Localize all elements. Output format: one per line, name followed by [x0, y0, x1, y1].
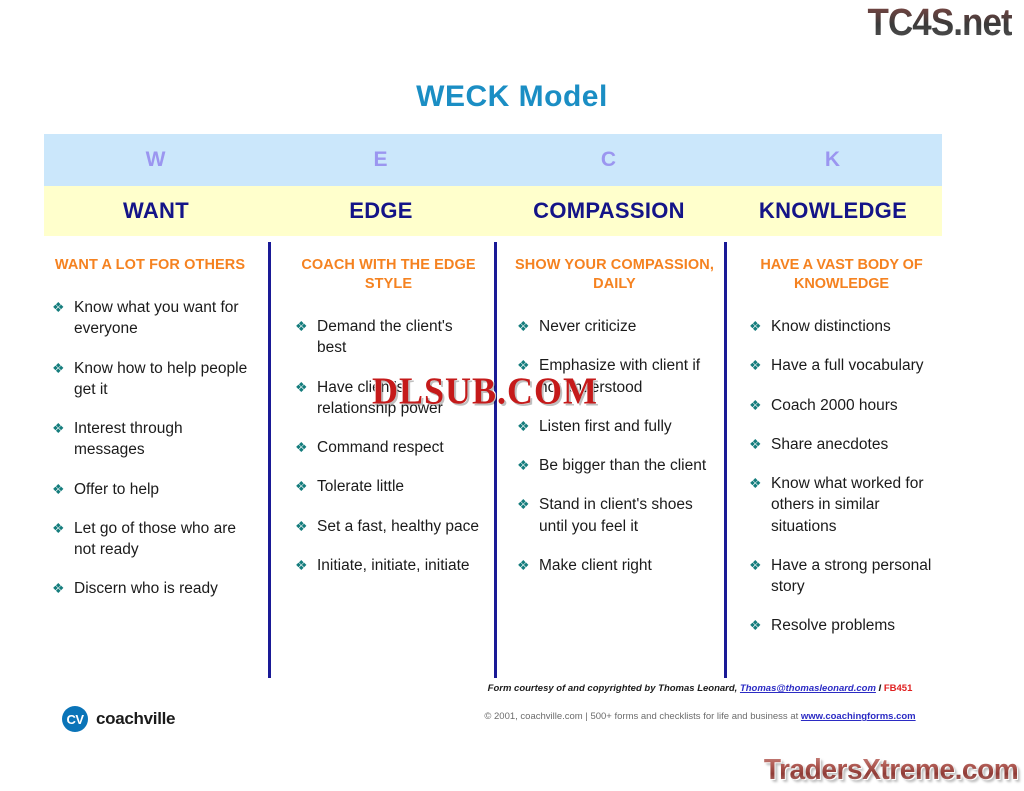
diamond-bullet-icon: ❖	[749, 355, 762, 376]
diamond-bullet-icon: ❖	[52, 418, 65, 439]
diamond-bullet-icon: ❖	[295, 516, 308, 537]
letter-cell-w: W	[44, 134, 268, 186]
words-row: WANT EDGE COMPASSION KNOWLEDGE	[44, 186, 942, 236]
weck-table-header: W E C K WANT EDGE COMPASSION KNOWLEDGE	[44, 134, 942, 236]
letter-cell-e: E	[268, 134, 494, 186]
diamond-bullet-icon: ❖	[52, 518, 65, 539]
list-item-text: Have client's relationship power	[317, 379, 443, 417]
list-item: ❖Know how to help people get it	[50, 358, 250, 400]
diamond-bullet-icon: ❖	[517, 494, 530, 515]
list-item: ❖Initiate, initiate, initiate	[293, 555, 484, 576]
list-item: ❖Listen first and fully	[515, 416, 714, 437]
diamond-bullet-icon: ❖	[295, 437, 308, 458]
list-item: ❖Interest through messages	[50, 418, 250, 460]
diamond-bullet-icon: ❖	[749, 615, 762, 636]
word-cell-edge: EDGE	[268, 186, 494, 236]
diamond-bullet-icon: ❖	[517, 555, 530, 576]
column-subhead: COACH WITH THE EDGE STYLE	[293, 256, 484, 294]
list-item: ❖Have a strong personal story	[747, 555, 936, 597]
cv-badge-icon: CV	[62, 706, 88, 732]
column-knowledge: HAVE A VAST BODY OF KNOWLEDGE ❖Know dist…	[724, 242, 942, 678]
form-code: FB451	[884, 683, 913, 694]
list-item-text: Never criticize	[539, 318, 636, 335]
diamond-bullet-icon: ❖	[295, 316, 308, 337]
list-item: ❖Have a full vocabulary	[747, 355, 936, 376]
footer-credit-prefix: Form courtesy of and copyrighted by Thom…	[488, 683, 740, 694]
column-compassion: SHOW YOUR COMPASSION, DAILY ❖Never criti…	[494, 242, 724, 678]
list-item-text: Have a strong personal story	[771, 557, 931, 595]
word-label: WANT	[123, 198, 189, 224]
coachville-logo: CV coachville	[62, 706, 175, 732]
column-subhead: SHOW YOUR COMPASSION, DAILY	[515, 256, 714, 294]
word-label: KNOWLEDGE	[759, 198, 907, 224]
diamond-bullet-icon: ❖	[749, 316, 762, 337]
list-item-text: Set a fast, healthy pace	[317, 518, 479, 535]
tradersxtreme-watermark: TradersXtreme.com	[764, 754, 1018, 787]
list-item-text: Know how to help people get it	[74, 360, 247, 398]
word-cell-compassion: COMPASSION	[494, 186, 724, 236]
list-item: ❖Emphasize with client if not understood	[515, 355, 714, 397]
diamond-bullet-icon: ❖	[749, 473, 762, 494]
list-item-text: Know what you want for everyone	[74, 299, 239, 337]
list-item-text: Be bigger than the client	[539, 457, 706, 474]
word-label: EDGE	[349, 198, 413, 224]
list-item-text: Have a full vocabulary	[771, 357, 924, 374]
list-item: ❖Set a fast, healthy pace	[293, 516, 484, 537]
list-item-text: Make client right	[539, 557, 652, 574]
list-item-text: Stand in client's shoes until you feel i…	[539, 496, 693, 534]
list-item: ❖Let go of those who are not ready	[50, 518, 250, 560]
author-email-link[interactable]: Thomas@thomasleonard.com	[740, 683, 876, 694]
list-item: ❖Resolve problems	[747, 615, 936, 636]
list-item: ❖Offer to help	[50, 479, 250, 500]
column-edge: COACH WITH THE EDGE STYLE ❖Demand the cl…	[268, 242, 494, 678]
diamond-bullet-icon: ❖	[517, 416, 530, 437]
tc4s-logo: TC4S.net	[868, 2, 1012, 45]
bullet-list: ❖Never criticize ❖Emphasize with client …	[515, 316, 714, 576]
diamond-bullet-icon: ❖	[295, 377, 308, 398]
list-item: ❖Be bigger than the client	[515, 455, 714, 476]
word-cell-want: WANT	[44, 186, 268, 236]
list-item-text: Know what worked for others in similar s…	[771, 475, 924, 534]
diamond-bullet-icon: ❖	[749, 555, 762, 576]
list-item-text: Interest through messages	[74, 420, 183, 458]
list-item-text: Let go of those who are not ready	[74, 520, 236, 558]
diamond-bullet-icon: ❖	[52, 479, 65, 500]
list-item-text: Share anecdotes	[771, 436, 888, 453]
footer-credit: Form courtesy of and copyrighted by Thom…	[440, 683, 960, 694]
diamond-bullet-icon: ❖	[517, 455, 530, 476]
letter-label: K	[825, 148, 841, 172]
list-item-text: Command respect	[317, 439, 444, 456]
list-item-text: Initiate, initiate, initiate	[317, 557, 470, 574]
diamond-bullet-icon: ❖	[52, 297, 65, 318]
bullet-list: ❖Know distinctions ❖Have a full vocabula…	[747, 316, 936, 636]
list-item: ❖Stand in client's shoes until you feel …	[515, 494, 714, 536]
list-item: ❖Know what you want for everyone	[50, 297, 250, 339]
letter-label: E	[373, 148, 388, 172]
list-item-text: Listen first and fully	[539, 418, 672, 435]
diamond-bullet-icon: ❖	[749, 434, 762, 455]
list-item: ❖Tolerate little	[293, 476, 484, 497]
list-item: ❖Coach 2000 hours	[747, 395, 936, 416]
word-label: COMPASSION	[533, 198, 685, 224]
list-item: ❖Make client right	[515, 555, 714, 576]
bullet-list: ❖Demand the client's best ❖Have client's…	[293, 316, 484, 576]
bullet-list: ❖Know what you want for everyone ❖Know h…	[50, 297, 250, 599]
diamond-bullet-icon: ❖	[517, 355, 530, 376]
list-item: ❖Discern who is ready	[50, 578, 250, 599]
list-item-text: Demand the client's best	[317, 318, 453, 356]
letter-label: C	[601, 148, 617, 172]
list-item: ❖Share anecdotes	[747, 434, 936, 455]
list-item-text: Resolve problems	[771, 617, 895, 634]
coachingforms-link[interactable]: www.coachingforms.com	[801, 711, 916, 722]
diamond-bullet-icon: ❖	[52, 578, 65, 599]
list-item-text: Emphasize with client if not understood	[539, 357, 700, 395]
diamond-bullet-icon: ❖	[295, 555, 308, 576]
list-item: ❖Have client's relationship power	[293, 377, 484, 419]
list-item: ❖Know what worked for others in similar …	[747, 473, 936, 537]
column-subhead: WANT A LOT FOR OTHERS	[50, 256, 250, 275]
diamond-bullet-icon: ❖	[52, 358, 65, 379]
column-want: WANT A LOT FOR OTHERS ❖Know what you wan…	[44, 242, 268, 678]
list-item: ❖Demand the client's best	[293, 316, 484, 358]
list-item: ❖Know distinctions	[747, 316, 936, 337]
list-item-text: Discern who is ready	[74, 580, 218, 597]
column-subhead: HAVE A VAST BODY OF KNOWLEDGE	[747, 256, 936, 294]
weck-columns: WANT A LOT FOR OTHERS ❖Know what you wan…	[44, 242, 942, 678]
diamond-bullet-icon: ❖	[517, 316, 530, 337]
list-item-text: Tolerate little	[317, 478, 404, 495]
letter-cell-c: C	[494, 134, 724, 186]
diamond-bullet-icon: ❖	[295, 476, 308, 497]
diamond-bullet-icon: ❖	[749, 395, 762, 416]
list-item-text: Know distinctions	[771, 318, 891, 335]
letters-row: W E C K	[44, 134, 942, 186]
letter-cell-k: K	[724, 134, 942, 186]
list-item-text: Offer to help	[74, 481, 159, 498]
list-item-text: Coach 2000 hours	[771, 397, 898, 414]
list-item: ❖Command respect	[293, 437, 484, 458]
footer-copyright: © 2001, coachville.com | 500+ forms and …	[400, 711, 1000, 722]
footer-credit-separator: I	[876, 683, 884, 694]
list-item: ❖Never criticize	[515, 316, 714, 337]
word-cell-knowledge: KNOWLEDGE	[724, 186, 942, 236]
letter-label: W	[146, 148, 167, 172]
footer-copyright-prefix: © 2001, coachville.com | 500+ forms and …	[484, 711, 801, 722]
coachville-wordmark: coachville	[96, 709, 175, 729]
page-title: WECK Model	[0, 80, 1024, 114]
